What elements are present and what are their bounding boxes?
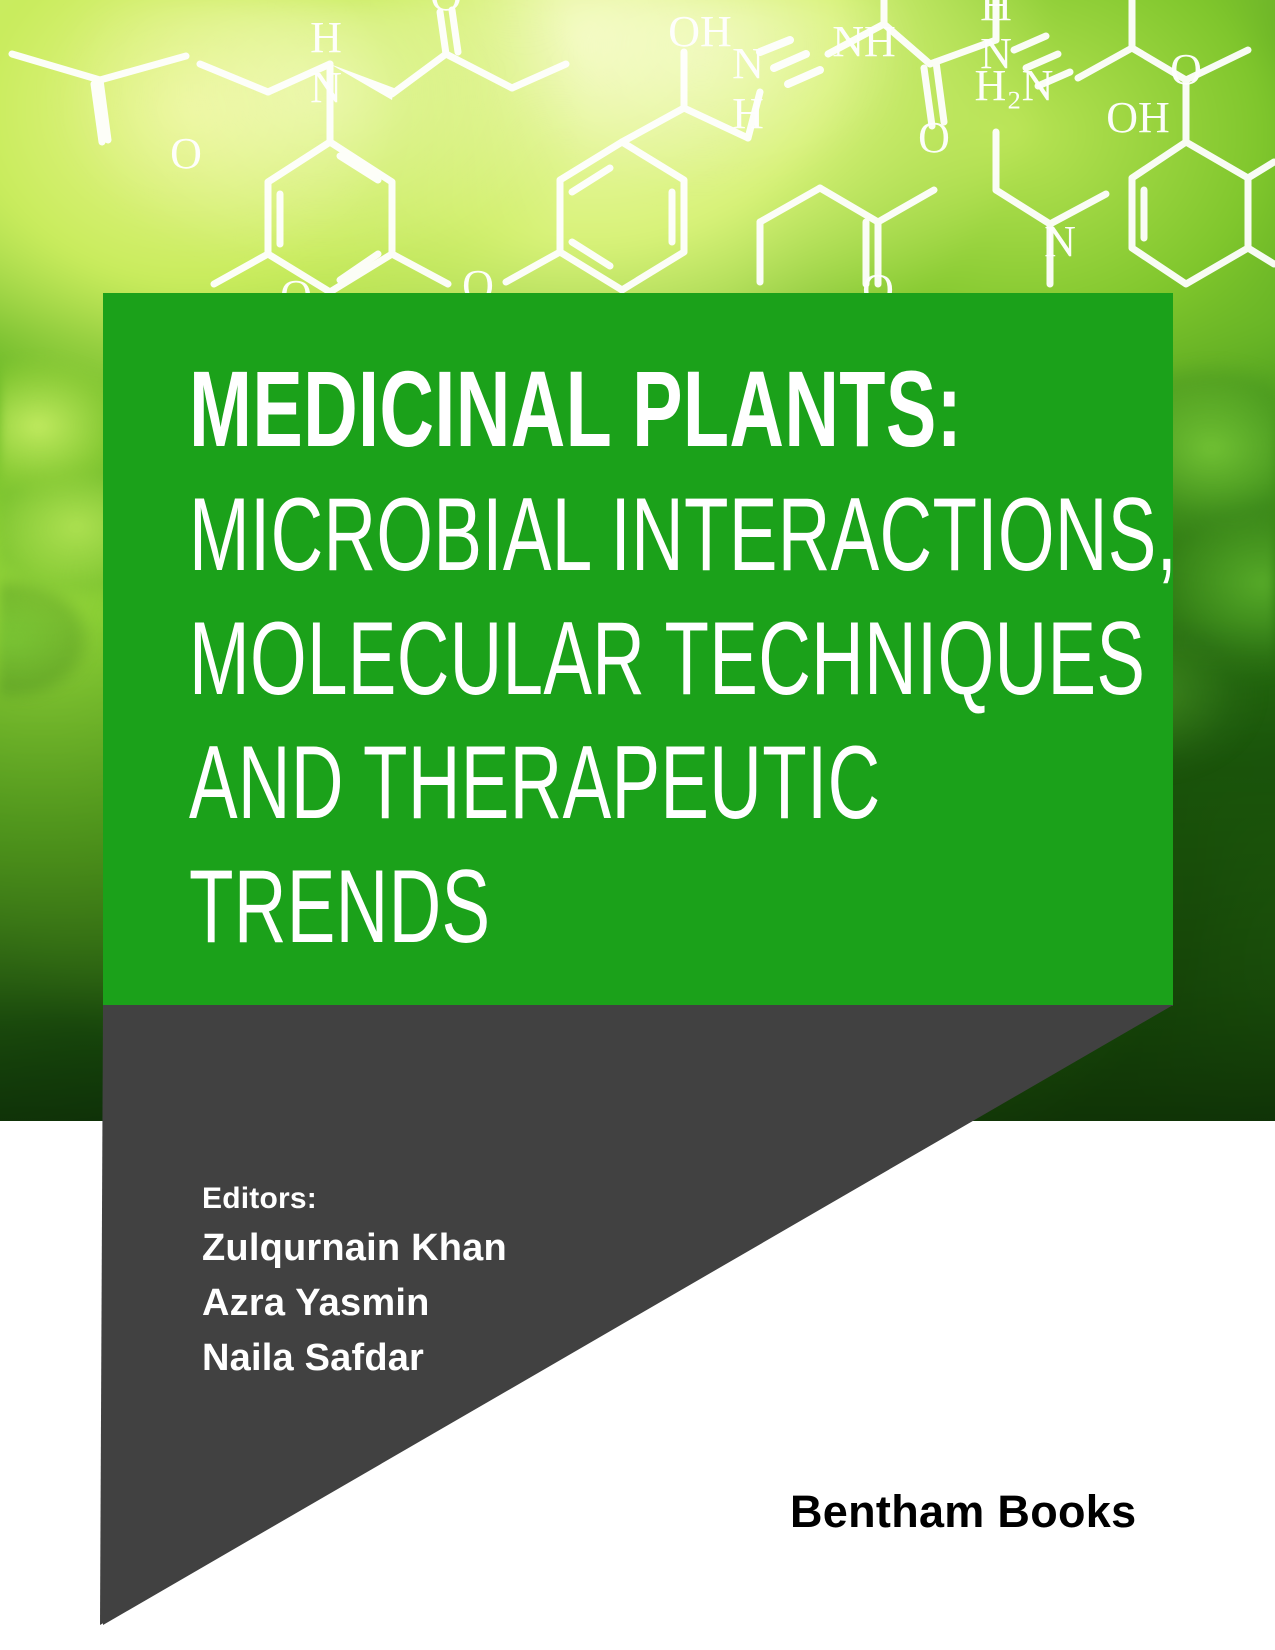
book-title-main: MEDICINAL PLANTS: [189, 355, 962, 463]
editor-name: Zulqurnain Khan [202, 1221, 507, 1276]
editors-block: Editors: Zulqurnain Khan Azra Yasmin Nai… [202, 1178, 507, 1386]
dark-angular-panel [0, 980, 1275, 1650]
editors-label: Editors: [202, 1178, 507, 1221]
book-subtitle-line-1: MICROBIAL INTERACTIONS, [189, 483, 1177, 587]
publisher-logo-text: Bentham Books [790, 1486, 1136, 1538]
editor-name: Azra Yasmin [202, 1276, 507, 1331]
book-subtitle-line-3: AND THERAPEUTIC [189, 731, 881, 835]
editor-name: Naila Safdar [202, 1331, 507, 1386]
book-subtitle-line-2: MOLECULAR TECHNIQUES [189, 607, 1145, 711]
book-subtitle-line-4: TRENDS [189, 855, 490, 959]
book-cover: H N O O O O N H OH NH O H N H₂N OH O N O [0, 0, 1275, 1650]
title-panel: MEDICINAL PLANTS: MICROBIAL INTERACTIONS… [103, 293, 1173, 1005]
